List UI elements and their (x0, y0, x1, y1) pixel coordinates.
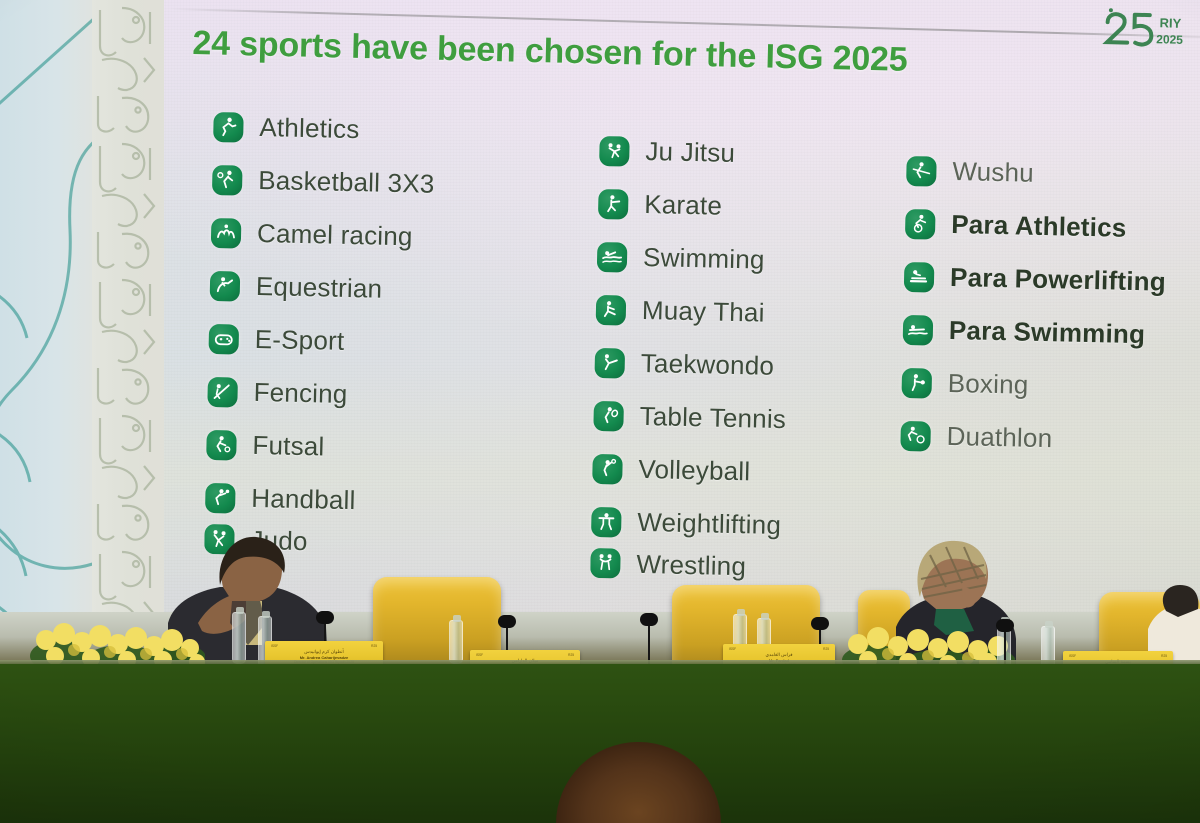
sport-item: Para Swimming (902, 303, 1165, 362)
para-powerlifting-icon (904, 261, 935, 292)
sport-item: Swimming (597, 230, 791, 287)
sports-column-1: AthleticsBasketball 3X3Camel racingEques… (204, 100, 436, 559)
sport-item: Equestrian (209, 259, 432, 317)
sport-label: Camel racing (257, 218, 413, 252)
sport-label: Para Athletics (951, 209, 1127, 244)
sport-item: Taekwondo (594, 336, 788, 393)
duathlon-icon (900, 420, 931, 451)
svg-text:2025: 2025 (1156, 32, 1183, 47)
wushu-icon (906, 155, 937, 186)
equestrian-icon (210, 270, 241, 301)
sport-item: Basketball 3X3 (212, 153, 435, 211)
fencing-icon (207, 376, 238, 407)
futsal-icon (206, 429, 237, 460)
sport-label: Muay Thai (642, 295, 765, 329)
sport-item: Weightlifting (591, 495, 785, 552)
sport-label: Weightlifting (637, 507, 781, 541)
sport-item: Camel racing (211, 206, 434, 264)
taekwondo-icon (594, 347, 625, 378)
conference-photo-stage: 24 sports have been chosen for the ISG 2… (0, 0, 1200, 823)
wrestling-icon (590, 548, 621, 579)
sports-column-2: Ju JitsuKarateSwimmingMuay ThaiTaekwondo… (590, 124, 792, 582)
sport-item: Duathlon (900, 409, 1163, 468)
sport-item: Futsal (206, 418, 429, 476)
sport-label: Taekwondo (640, 348, 774, 382)
sport-label: Swimming (643, 242, 765, 276)
esport-icon (208, 323, 239, 354)
sport-label: Karate (644, 189, 722, 222)
sport-label: Volleyball (638, 454, 751, 487)
water-bottle (449, 620, 463, 664)
camel-racing-icon (211, 217, 242, 248)
weightlifting-icon (591, 506, 622, 537)
sport-item: E-Sport (208, 312, 431, 370)
swimming-icon (597, 241, 628, 272)
sport-label: Wushu (952, 156, 1034, 189)
table-tennis-icon (593, 400, 624, 431)
sport-item: Para Athletics (905, 197, 1168, 256)
water-bottle (232, 612, 246, 664)
sport-label: Wrestling (636, 548, 746, 581)
sport-item: Boxing (901, 356, 1164, 415)
sport-label: Table Tennis (639, 401, 786, 435)
sport-label: Ju Jitsu (645, 136, 735, 169)
para-swimming-icon (903, 314, 934, 345)
sport-label: E-Sport (254, 324, 344, 357)
volleyball-icon (592, 453, 623, 484)
sport-item: Table Tennis (593, 389, 787, 446)
sport-label: Para Powerlifting (950, 262, 1166, 298)
sport-label: Futsal (252, 430, 325, 463)
sport-item: Wushu (906, 144, 1169, 203)
jujitsu-icon (599, 135, 630, 166)
sport-item: Handball (205, 471, 428, 529)
sport-item: Wrestling (590, 548, 783, 582)
boxing-icon (901, 367, 932, 398)
sport-item: Muay Thai (595, 283, 789, 340)
basketball-icon (212, 164, 243, 195)
sport-item: Fencing (207, 365, 430, 423)
sports-column-3: WushuPara AthleticsPara PowerliftingPara… (900, 144, 1169, 468)
sport-label: Para Swimming (949, 315, 1146, 350)
sport-label: Handball (251, 483, 356, 516)
slide-decorative-glyph (0, 0, 92, 660)
sport-label: Fencing (253, 377, 348, 410)
sport-item: Athletics (213, 100, 436, 158)
sport-item: Volleyball (592, 442, 786, 499)
slide-calligraphy-band (92, 0, 164, 660)
sport-label: Duathlon (946, 421, 1052, 454)
sport-item: Para Powerlifting (904, 250, 1167, 309)
sport-label: Boxing (947, 368, 1028, 401)
sport-item: Ju Jitsu (599, 124, 793, 181)
sport-item: Karate (598, 177, 792, 234)
sport-label: Athletics (259, 112, 360, 145)
sport-label: Basketball 3X3 (258, 165, 435, 200)
svg-text:RIY: RIY (1159, 15, 1181, 30)
karate-icon (598, 188, 629, 219)
muaythai-icon (596, 294, 627, 325)
athletics-icon (213, 111, 244, 142)
para-athletics-icon (905, 208, 936, 239)
handball-icon (205, 482, 236, 513)
sport-label: Equestrian (256, 271, 383, 305)
slide-logo: RIY 2025 (1101, 6, 1198, 54)
